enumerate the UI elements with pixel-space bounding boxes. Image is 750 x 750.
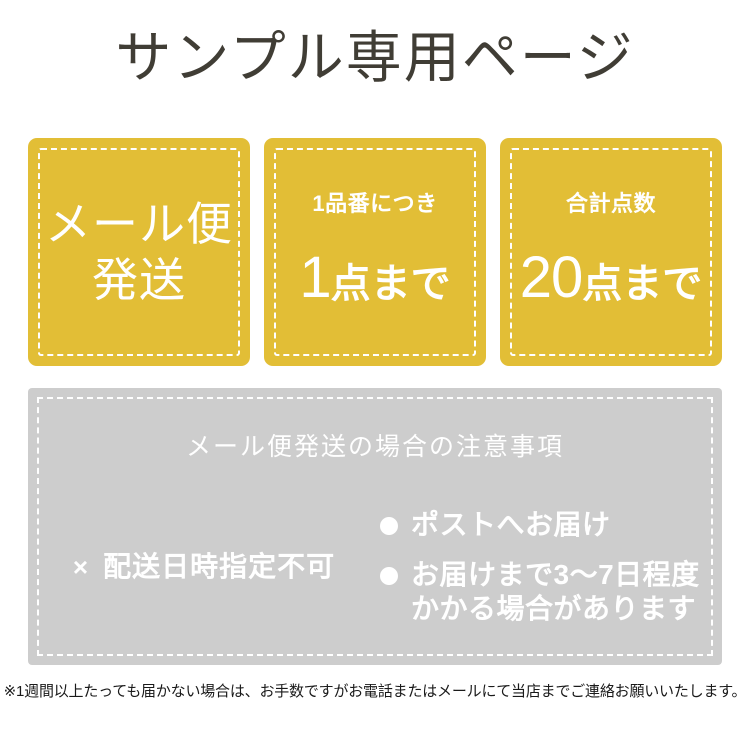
notice-panel: メール便発送の場合の注意事項 × 配送日時指定不可 ポストへお届け: [28, 388, 722, 665]
bullet-text: お届けまで3〜7日程度 かかる場合があります: [411, 558, 700, 626]
per-item-limit-unit: 点まで: [331, 255, 451, 313]
footnote-text: ※1週間以上たっても届かない場合は、お手数ですがお電話またはメールにて当店までご…: [0, 682, 750, 702]
notice-heading: メール便発送の場合の注意事項: [28, 432, 722, 462]
feature-box-content: メール便 発送: [28, 196, 250, 308]
feature-box-group: メール便 発送 1品番につき 1 点まで 合計点数 20 点まで: [28, 138, 722, 366]
per-item-limit-caption: 1品番につき: [264, 191, 486, 217]
total-limit-caption: 合計点数: [500, 191, 722, 217]
sample-page-banner: サンプル専用ページ メール便 発送 1品番につき 1 点まで: [0, 0, 750, 750]
total-limit-unit: 点まで: [582, 255, 702, 313]
notice-bullet-list: ポストへお届け お届けまで3〜7日程度 かかる場合があります: [380, 492, 722, 626]
shipping-method-line-2: 発送: [28, 252, 250, 308]
list-item: ポストへお届け: [380, 508, 722, 542]
bullet-text: ポストへお届け: [411, 508, 611, 542]
feature-box-content: 合計点数 20 点まで: [500, 191, 722, 313]
bullet-dot-icon: [380, 517, 398, 535]
bullet-line-1: お届けまで3〜7日程度: [411, 559, 700, 590]
notice-body: × 配送日時指定不可 ポストへお届け お届けまで3〜7日程度 かかる場合がありま…: [28, 492, 722, 652]
notice-restriction: × 配送日時指定不可: [28, 492, 380, 642]
per-item-limit-value: 1 点まで: [264, 249, 486, 313]
shipping-method-line-1: メール便: [28, 196, 250, 252]
bullet-dot-icon: [380, 567, 398, 585]
feature-box-content: 1品番につき 1 点まで: [264, 191, 486, 313]
feature-box-total-limit: 合計点数 20 点まで: [500, 138, 722, 366]
total-limit-number: 20: [520, 249, 583, 307]
feature-box-per-item-limit: 1品番につき 1 点まで: [264, 138, 486, 366]
bullet-line-2: かかる場合があります: [411, 592, 700, 626]
restriction-row: × 配送日時指定不可: [73, 550, 335, 584]
restriction-label: 配送日時指定不可: [103, 550, 335, 584]
list-item: お届けまで3〜7日程度 かかる場合があります: [380, 558, 722, 626]
feature-box-shipping-method: メール便 発送: [28, 138, 250, 366]
bullet-line-1: ポストへお届け: [411, 509, 611, 540]
cross-mark-icon: ×: [73, 550, 89, 584]
page-title: サンプル専用ページ: [0, 26, 750, 90]
total-limit-value: 20 点まで: [500, 249, 722, 313]
per-item-limit-number: 1: [299, 249, 330, 307]
